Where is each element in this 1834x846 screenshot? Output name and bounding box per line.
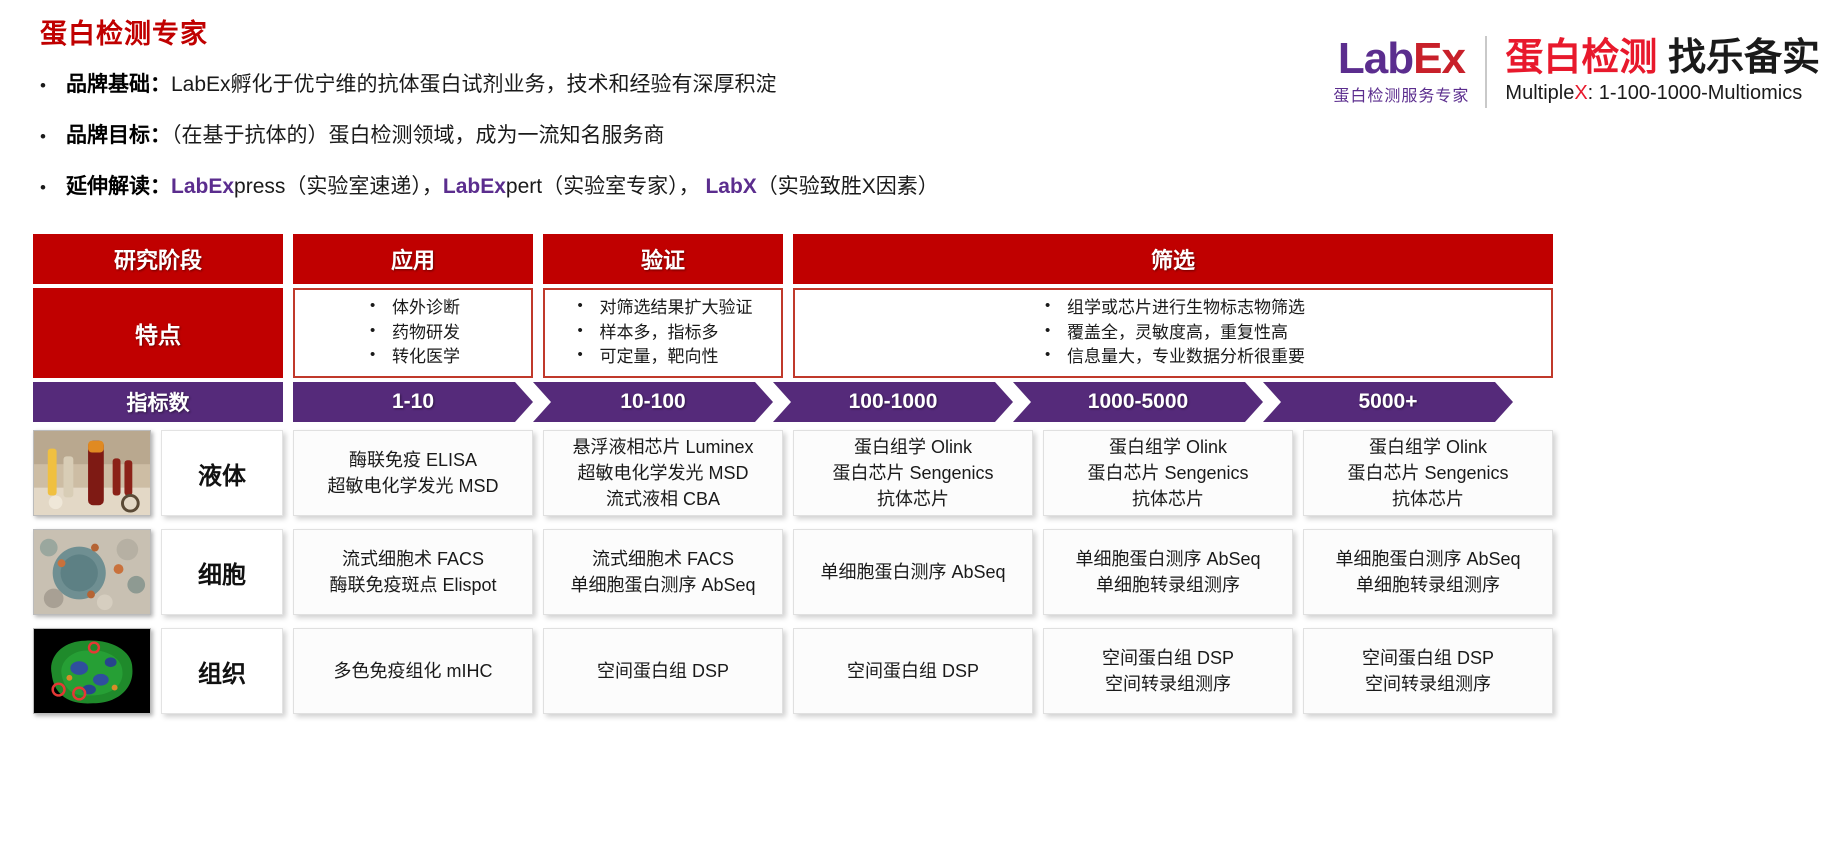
method-text: 流式细胞术 FACS — [570, 546, 755, 572]
bullet-text: LabEx孵化于优宁维的抗体蛋白试剂业务，技术和经验有深厚积淀 — [171, 73, 777, 96]
bullet-label: 品牌目标 — [66, 124, 150, 147]
bullet-dot-icon: • — [40, 128, 66, 145]
method-text: 蛋白芯片 Sengenics — [832, 460, 993, 486]
index-count-row: 指标数 1-10 10-100 100-1000 1000-5000 5000+ — [33, 382, 1803, 422]
method-text: 单细胞蛋白测序 AbSeq — [1075, 546, 1260, 572]
sample-type-label-tissue: 组织 — [161, 628, 283, 714]
index-value-1000-5000: 1000-5000 — [1013, 382, 1263, 422]
cell-liquid-1000-5000: 蛋白组学 Olink 蛋白芯片 Sengenics 抗体芯片 — [1043, 430, 1293, 516]
method-text: 流式细胞术 FACS — [329, 546, 496, 572]
method-text: 单细胞转录组测序 — [1075, 572, 1260, 598]
intro-bullet-list: • 品牌基础：LabEx孵化于优宁维的抗体蛋白试剂业务，技术和经验有深厚积淀 •… — [40, 68, 1130, 221]
tissue-fluorescence-photo — [33, 628, 151, 714]
method-text: 单细胞转录组测序 — [1335, 572, 1520, 598]
list-item: • 品牌基础：LabEx孵化于优宁维的抗体蛋白试剂业务，技术和经验有深厚积淀 — [40, 68, 1130, 98]
method-text: 抗体芯片 — [832, 486, 993, 512]
brand-labex-2: LabEx — [443, 175, 506, 198]
cell-cell-1-10: 流式细胞术 FACS 酶联免疫斑点 Elispot — [293, 529, 533, 615]
method-text: 空间蛋白组 DSP — [847, 658, 979, 684]
brand-labx-rest: （实验致胜X因素） — [757, 175, 939, 198]
tagline-black-text: 找乐备实 — [1668, 37, 1820, 79]
multiplex-x: X — [1574, 82, 1587, 104]
cell-tissue-5000-plus: 空间蛋白组 DSP 空间转录组测序 — [1303, 628, 1553, 714]
logo-wordmark: LabEx — [1333, 38, 1469, 80]
feature-item: 信息量大，专业数据分析很重要 — [1041, 345, 1305, 370]
method-text: 流式液相 CBA — [572, 486, 753, 512]
cell-cell-5000-plus: 单细胞蛋白测序 AbSeq 单细胞转录组测序 — [1303, 529, 1553, 615]
method-text: 蛋白组学 Olink — [1347, 434, 1508, 460]
features-cell-application: 体外诊断 药物研发 转化医学 — [293, 288, 533, 378]
feature-item: 转化医学 — [366, 345, 460, 370]
method-text: 单细胞蛋白测序 AbSeq — [1335, 546, 1520, 572]
cell-cell-100-1000: 单细胞蛋白测序 AbSeq — [793, 529, 1033, 615]
logo-tagline-block: 蛋白检测 找乐备实 MultipleX: 1-100-1000-Multiomi… — [1505, 39, 1820, 106]
multiplex-prefix: Multiple — [1505, 82, 1574, 104]
page-title: 蛋白检测专家 — [40, 12, 208, 51]
method-text: 多色免疫组化 mIHC — [334, 658, 493, 684]
bullet-label: 品牌基础 — [66, 73, 150, 96]
logo-tagline: 蛋白检测 找乐备实 — [1505, 39, 1820, 79]
table-row: 组织 多色免疫组化 mIHC 空间蛋白组 DSP 空间蛋白组 DSP — [33, 625, 1803, 717]
slide-root: 蛋白检测专家 • 品牌基础：LabEx孵化于优宁维的抗体蛋白试剂业务，技术和经验… — [0, 0, 1834, 846]
feature-item: 对筛选结果扩大验证 — [574, 296, 753, 321]
index-row-label: 指标数 — [33, 382, 283, 422]
cell-tissue-10-100: 空间蛋白组 DSP — [543, 628, 783, 714]
method-text: 空间转录组测序 — [1102, 671, 1234, 697]
logo-word-ex: Ex — [1413, 34, 1465, 83]
method-text: 空间蛋白组 DSP — [597, 658, 729, 684]
bullet-separator: ： — [150, 175, 171, 198]
multiplex-suffix: : 1-100-1000-Multiomics — [1588, 82, 1803, 104]
cell-microscopy-photo — [33, 529, 151, 615]
features-row: 特点 体外诊断 药物研发 转化医学 对筛选结果扩大验证 样本多，指标多 可定量，… — [33, 288, 1803, 378]
stage-header-validation: 验证 — [543, 234, 783, 284]
bullet-text: （在基于抗体的）蛋白检测领域，成为一流知名服务商 — [171, 124, 665, 147]
method-text: 蛋白芯片 Sengenics — [1087, 460, 1248, 486]
bullet-separator: ： — [150, 124, 171, 147]
bullet-dot-icon: • — [40, 179, 66, 196]
labex-logo: LabEx 蛋白检测服务专家 蛋白检测 找乐备实 MultipleX: 1-10… — [1333, 36, 1820, 108]
features-row-label: 特点 — [33, 288, 283, 378]
method-text: 蛋白组学 Olink — [832, 434, 993, 460]
method-text: 酶联免疫斑点 Elispot — [329, 572, 496, 598]
brand-labexpress-rest: press（实验室速递）， — [234, 175, 443, 198]
logo-divider — [1485, 36, 1487, 108]
method-text: 抗体芯片 — [1347, 486, 1508, 512]
blood-tubes-lab-photo — [33, 430, 151, 516]
bullet-dot-icon: • — [40, 77, 66, 94]
index-value-100-1000: 100-1000 — [773, 382, 1013, 422]
features-cell-validation: 对筛选结果扩大验证 样本多，指标多 可定量，靶向性 — [543, 288, 783, 378]
list-item: • 延伸解读：LabExpress（实验室速递），LabExpert（实验室专家… — [40, 170, 1130, 200]
method-text: 空间蛋白组 DSP — [1102, 645, 1234, 671]
logo-wordmark-block: LabEx 蛋白检测服务专家 — [1333, 38, 1485, 106]
method-text: 单细胞蛋白测序 AbSeq — [820, 559, 1005, 585]
method-text: 超敏电化学发光 MSD — [328, 473, 499, 499]
method-text: 超敏电化学发光 MSD — [572, 460, 753, 486]
index-value-5000-plus: 5000+ — [1263, 382, 1513, 422]
sample-type-label-cell: 细胞 — [161, 529, 283, 615]
logo-word-lab: Lab — [1338, 34, 1413, 83]
cell-tissue-1-10: 多色免疫组化 mIHC — [293, 628, 533, 714]
cell-liquid-100-1000: 蛋白组学 Olink 蛋白芯片 Sengenics 抗体芯片 — [793, 430, 1033, 516]
brand-labexpert-rest: pert（实验室专家）， — [506, 175, 706, 198]
stage-header-row: 研究阶段 应用 验证 筛选 — [33, 234, 1803, 284]
cell-liquid-10-100: 悬浮液相芯片 Luminex 超敏电化学发光 MSD 流式液相 CBA — [543, 430, 783, 516]
cell-cell-10-100: 流式细胞术 FACS 单细胞蛋白测序 AbSeq — [543, 529, 783, 615]
method-text: 空间转录组测序 — [1362, 671, 1494, 697]
cell-tissue-100-1000: 空间蛋白组 DSP — [793, 628, 1033, 714]
feature-item: 体外诊断 — [366, 296, 460, 321]
table-row: 细胞 流式细胞术 FACS 酶联免疫斑点 Elispot 流式细胞术 FACS … — [33, 526, 1803, 618]
method-text: 酶联免疫 ELISA — [328, 447, 499, 473]
brand-labex-1: LabEx — [171, 175, 234, 198]
logo-subtitle: 蛋白检测服务专家 — [1333, 82, 1469, 106]
cell-liquid-1-10: 酶联免疫 ELISA 超敏电化学发光 MSD — [293, 430, 533, 516]
feature-item: 可定量，靶向性 — [574, 345, 753, 370]
feature-item: 覆盖全，灵敏度高，重复性高 — [1041, 321, 1305, 346]
multiplex-line: MultipleX: 1-100-1000-Multiomics — [1505, 82, 1820, 105]
tagline-red-text: 蛋白检测 — [1505, 37, 1657, 79]
bullet-label: 延伸解读 — [66, 175, 150, 198]
cell-cell-1000-5000: 单细胞蛋白测序 AbSeq 单细胞转录组测序 — [1043, 529, 1293, 615]
feature-item: 药物研发 — [366, 321, 460, 346]
index-value-10-100: 10-100 — [533, 382, 773, 422]
capability-matrix: 研究阶段 应用 验证 筛选 特点 体外诊断 药物研发 转化医学 对筛选结果 — [33, 234, 1803, 724]
cell-tissue-1000-5000: 空间蛋白组 DSP 空间转录组测序 — [1043, 628, 1293, 714]
stage-header-application: 应用 — [293, 234, 533, 284]
brand-labx: LabX — [705, 175, 756, 198]
features-cell-screening: 组学或芯片进行生物标志物筛选 覆盖全，灵敏度高，重复性高 信息量大，专业数据分析… — [793, 288, 1553, 378]
list-item: • 品牌目标：（在基于抗体的）蛋白检测领域，成为一流知名服务商 — [40, 119, 1130, 149]
method-text: 单细胞蛋白测序 AbSeq — [570, 572, 755, 598]
cell-liquid-5000-plus: 蛋白组学 Olink 蛋白芯片 Sengenics 抗体芯片 — [1303, 430, 1553, 516]
method-text: 抗体芯片 — [1087, 486, 1248, 512]
feature-item: 样本多，指标多 — [574, 321, 753, 346]
method-text: 蛋白组学 Olink — [1087, 434, 1248, 460]
method-text: 悬浮液相芯片 Luminex — [572, 434, 753, 460]
feature-item: 组学或芯片进行生物标志物筛选 — [1041, 296, 1305, 321]
method-text: 蛋白芯片 Sengenics — [1347, 460, 1508, 486]
sample-type-label-liquid: 液体 — [161, 430, 283, 516]
table-row: 液体 酶联免疫 ELISA 超敏电化学发光 MSD 悬浮液相芯片 Luminex… — [33, 427, 1803, 519]
stage-header-label: 研究阶段 — [33, 234, 283, 284]
bullet-separator: ： — [150, 73, 171, 96]
method-text: 空间蛋白组 DSP — [1362, 645, 1494, 671]
stage-header-screening: 筛选 — [793, 234, 1553, 284]
index-value-1-10: 1-10 — [293, 382, 533, 422]
